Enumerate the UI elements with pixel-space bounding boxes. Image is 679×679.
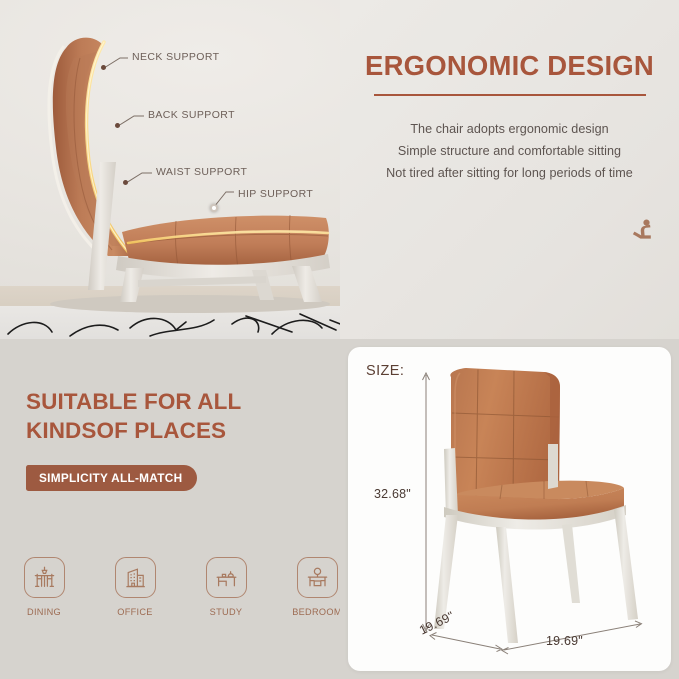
- page-title: ERGONOMIC DESIGN: [362, 52, 657, 80]
- callout-label-waist-support: WAIST SUPPORT: [156, 166, 247, 178]
- room-label-office: OFFICE: [107, 607, 163, 617]
- room-label-study: STUDY: [198, 607, 254, 617]
- room-item-office: OFFICE: [107, 557, 163, 617]
- room-label-dining: DINING: [16, 607, 72, 617]
- person-reclining-icon: [631, 217, 657, 243]
- size-panel: SIZE:: [340, 339, 679, 679]
- room-type-list: DINING OFFICE: [16, 557, 345, 617]
- room-label-bedroom: BEDROOM: [289, 607, 345, 617]
- suitable-title-line1: SUITABLE FOR ALL: [26, 387, 340, 416]
- room-item-dining: DINING: [16, 557, 72, 617]
- title-underline: [374, 94, 646, 96]
- description-line-1: The chair adopts ergonomic design: [362, 118, 657, 140]
- headline-panel: ERGONOMIC DESIGN The chair adopts ergono…: [340, 0, 679, 339]
- callout-label-hip-support: HIP SUPPORT: [238, 188, 313, 200]
- infographic-page: NECK SUPPORT BACK SUPPORT WAIST SUPPORT …: [0, 0, 679, 679]
- chair-dimension-illustration: [348, 347, 671, 671]
- callout-dot-back: [115, 123, 120, 128]
- dining-table-icon: [24, 557, 65, 598]
- suitable-title-line2: KINDSOF PLACES: [26, 416, 340, 445]
- size-card: SIZE:: [348, 347, 671, 671]
- suitable-places-panel: SUITABLE FOR ALL KINDSOF PLACES SIMPLICI…: [0, 339, 340, 679]
- room-item-bedroom: BEDROOM: [289, 557, 345, 617]
- simplicity-badge: SIMPLICITY ALL-MATCH: [26, 465, 197, 491]
- bedroom-vanity-icon: [297, 557, 338, 598]
- study-desk-icon: [206, 557, 247, 598]
- description-line-3: Not tired after sitting for long periods…: [362, 162, 657, 184]
- callout-label-neck-support: NECK SUPPORT: [132, 51, 219, 63]
- office-building-icon: [115, 557, 156, 598]
- callout-dot-waist: [123, 180, 128, 185]
- room-item-study: STUDY: [198, 557, 254, 617]
- callout-label-back-support: BACK SUPPORT: [148, 109, 235, 121]
- callout-dot-neck: [101, 65, 106, 70]
- description-lines: The chair adopts ergonomic design Simple…: [362, 118, 657, 185]
- callout-dot-hip: [210, 204, 218, 212]
- description-line-2: Simple structure and comfortable sitting: [362, 140, 657, 162]
- dimension-height: 32.68": [374, 487, 411, 501]
- suitable-title: SUITABLE FOR ALL KINDSOF PLACES: [26, 387, 340, 446]
- dimension-width: 19.69": [546, 634, 583, 648]
